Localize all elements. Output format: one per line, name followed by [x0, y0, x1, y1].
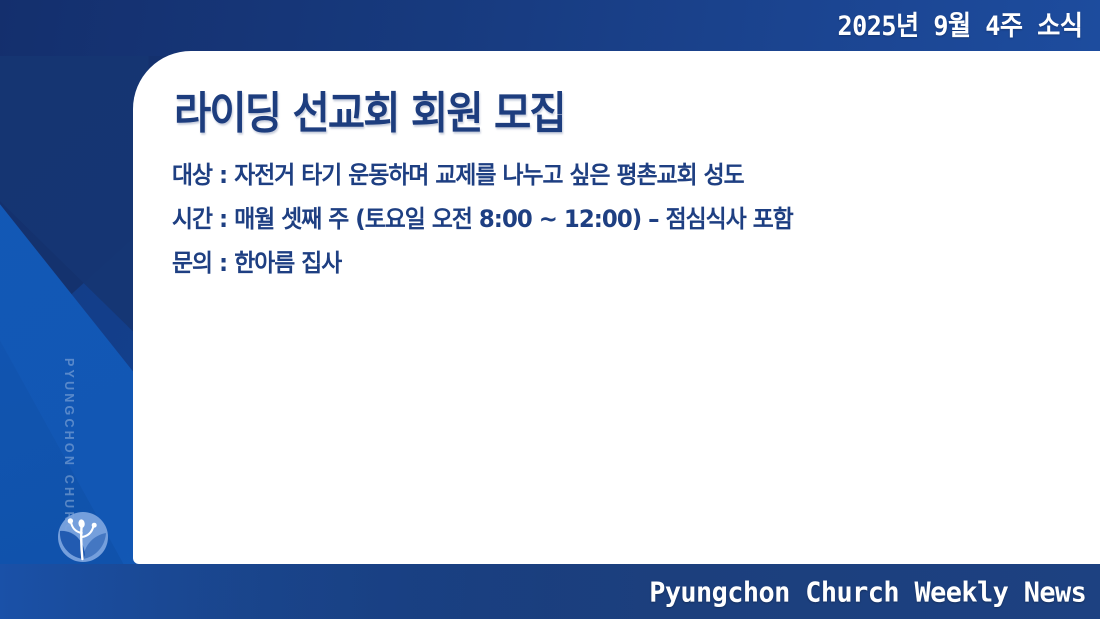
vertical-brand-text: PYUNGCHON CHURCH	[62, 358, 76, 508]
content-card: 라이딩 선교회 회원 모집 대상 : 자전거 타기 운동하며 교제를 나누고 싶…	[133, 51, 1100, 564]
church-flower-logo	[57, 511, 109, 563]
footer-brand-text: Pyungchon Church Weekly News	[649, 575, 1086, 608]
announcement-details: 대상 : 자전거 타기 운동하며 교제를 나누고 싶은 평촌교회 성도 시간 :…	[172, 153, 1072, 285]
issue-date-label: 2025년 9월 4주 소식	[837, 4, 1082, 43]
detail-line-target: 대상 : 자전거 타기 운동하며 교제를 나누고 싶은 평촌교회 성도	[172, 153, 1027, 197]
detail-line-contact: 문의 : 한아름 집사	[172, 241, 1027, 285]
footer-bar: Pyungchon Church Weekly News	[0, 564, 1100, 619]
detail-line-time: 시간 : 매월 셋째 주 (토요일 오전 8:00 ~ 12:00) – 점심식…	[172, 197, 1027, 241]
page-title: 라이딩 선교회 회원 모집	[174, 77, 565, 141]
slide-canvas: 2025년 9월 4주 소식 라이딩 선교회 회원 모집 대상 : 자전거 타기…	[0, 0, 1100, 619]
